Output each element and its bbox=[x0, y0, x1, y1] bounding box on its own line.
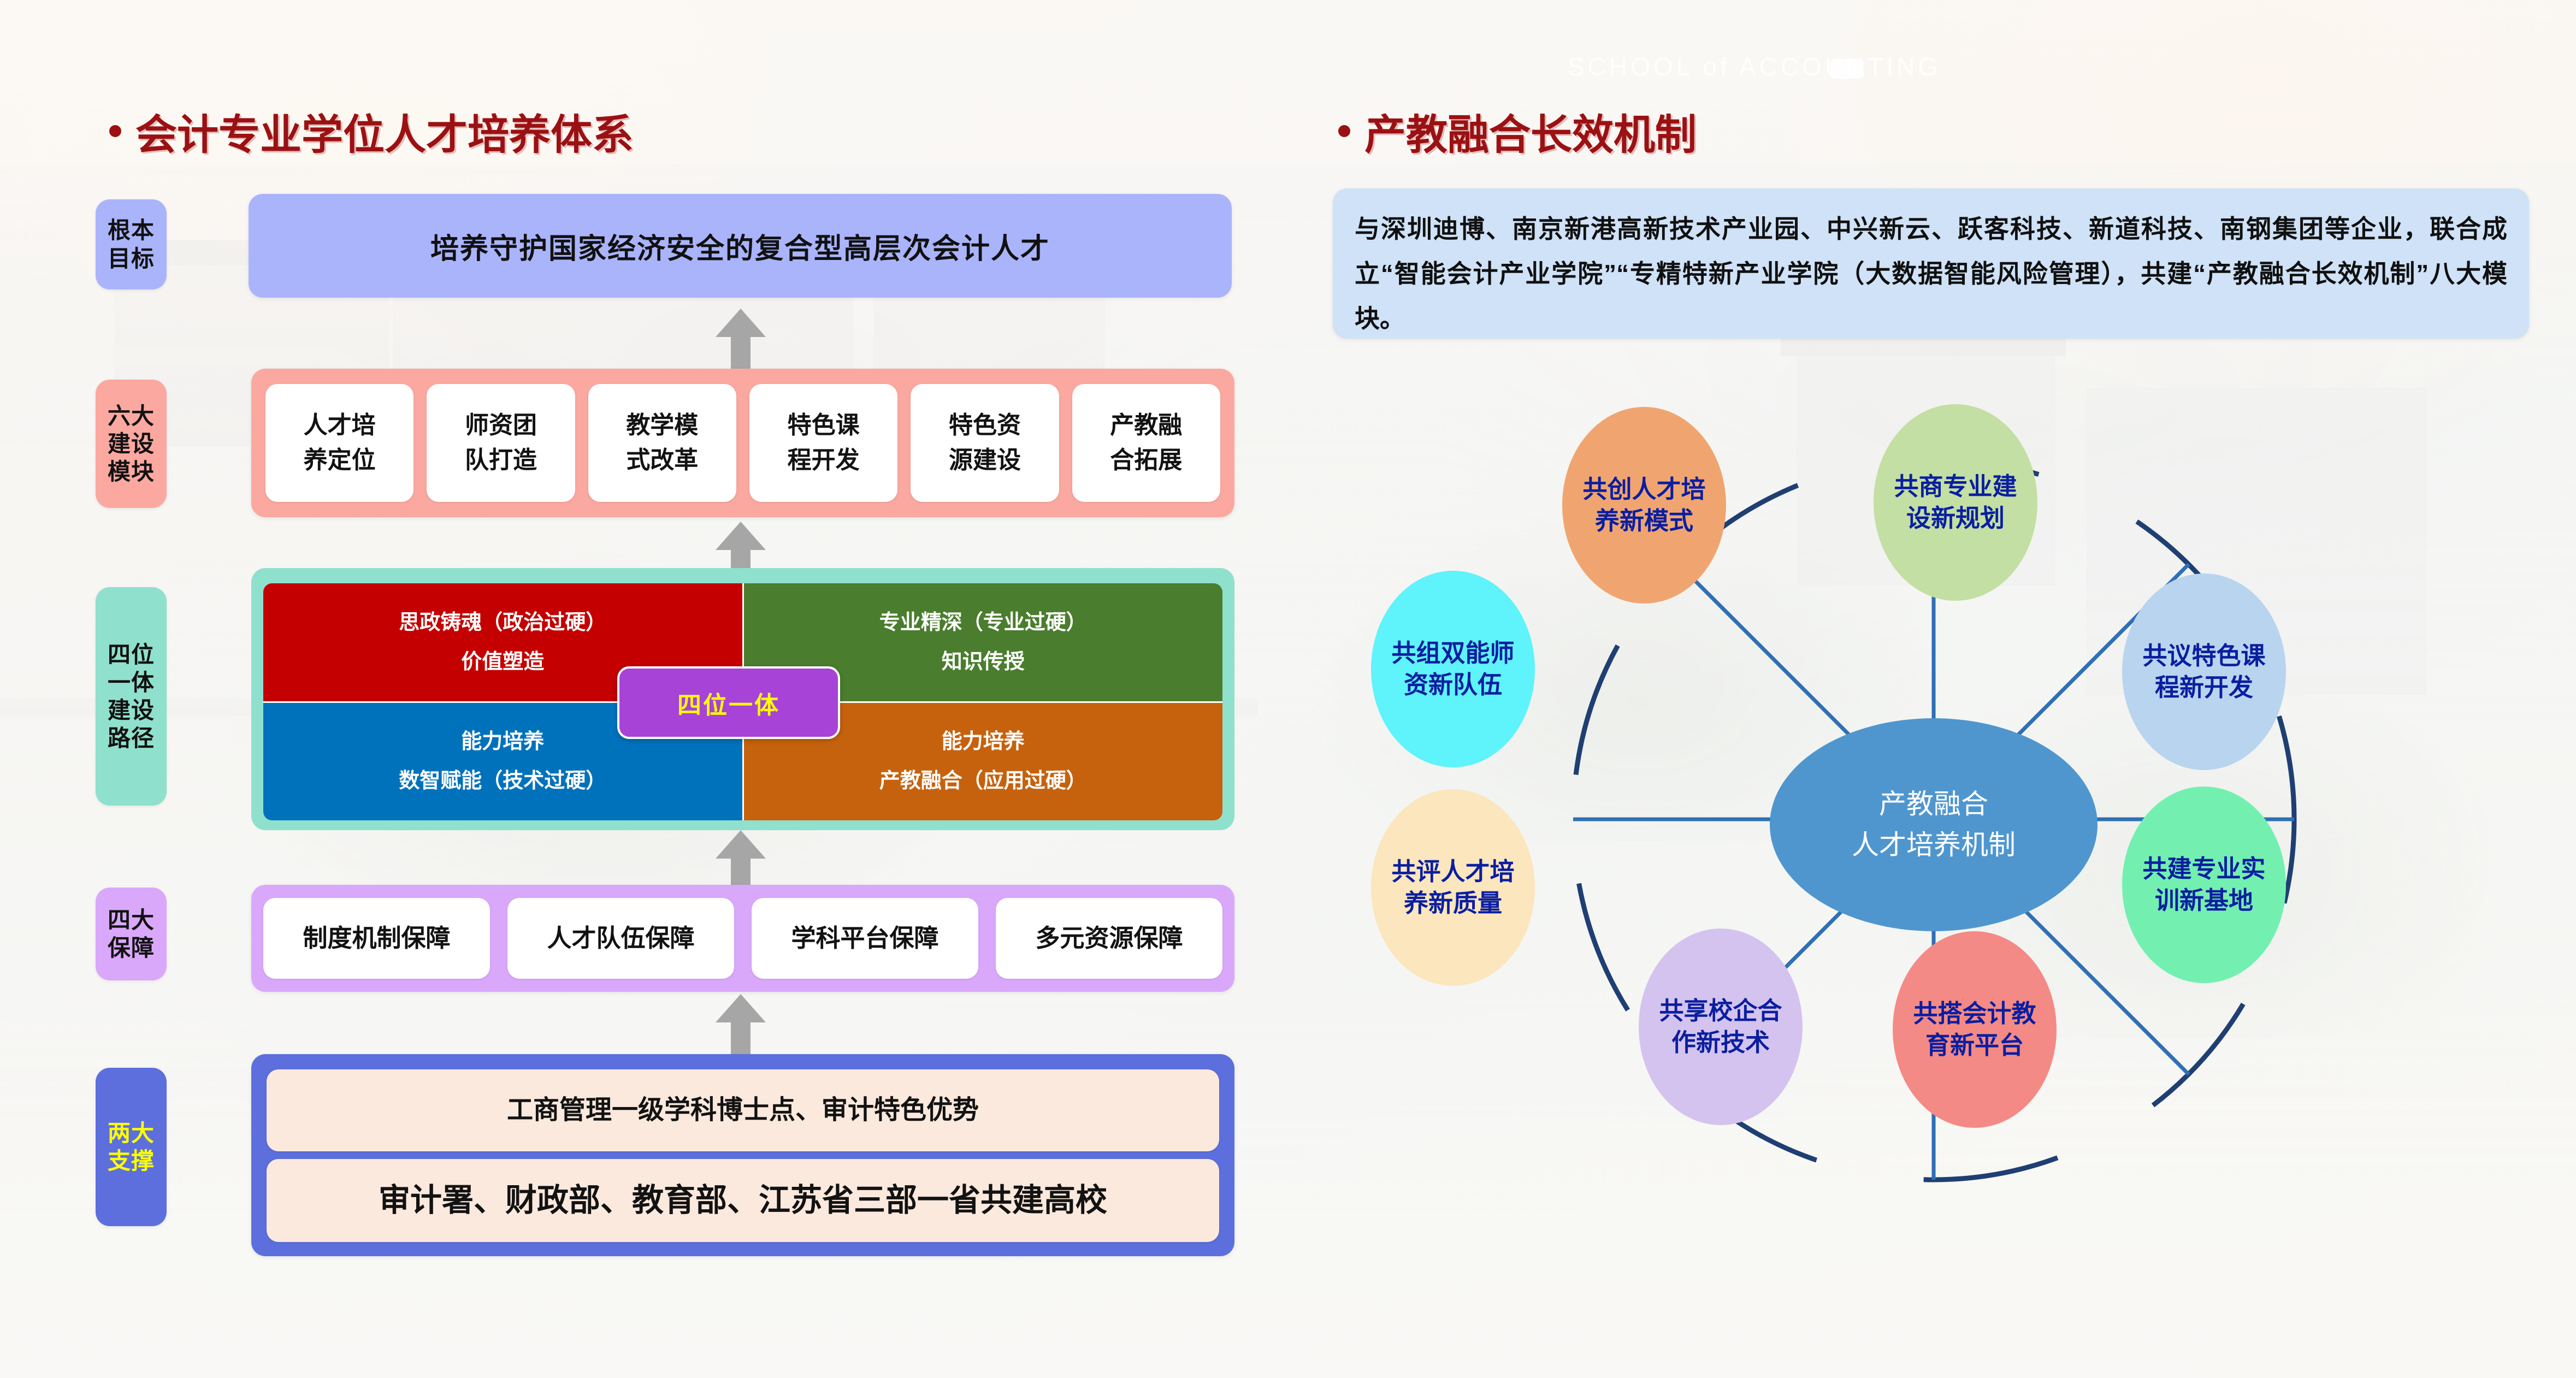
node-line: 共享校企合 bbox=[1659, 995, 1782, 1027]
module-chip-line: 人才培 bbox=[304, 408, 376, 443]
wheel-center-node[interactable]: 产教融合 人才培养机制 bbox=[1770, 718, 2098, 931]
module-chip-line: 产教融 bbox=[1110, 408, 1182, 443]
goal-band: 培养守护国家经济安全的复合型高层次会计人才 bbox=[249, 194, 1232, 298]
node-line: 养新质量 bbox=[1404, 888, 1502, 919]
node-line: 共建专业实 bbox=[2142, 853, 2265, 885]
module-chip-line: 队打造 bbox=[465, 443, 537, 478]
row-label-line: 四大 bbox=[108, 906, 155, 934]
right-title-text: 产教融合长效机制 bbox=[1364, 101, 1697, 161]
module-chip-line: 特色课 bbox=[788, 408, 860, 443]
wheel-node-education-platform[interactable]: 共搭会计教 育新平台 bbox=[1893, 931, 2057, 1128]
right-section-title: 产教融合长效机制 bbox=[1338, 101, 1697, 161]
row-label-goal: 根本 目标 bbox=[96, 199, 167, 289]
bullet-dot-icon bbox=[1338, 125, 1350, 137]
guarantees-band: 制度机制保障 人才队伍保障 学科平台保障 多元资源保障 bbox=[251, 885, 1234, 992]
guarantee-chip-text: 学科平台保障 bbox=[791, 920, 938, 956]
module-chip[interactable]: 师资团 队打造 bbox=[427, 384, 575, 502]
quadrant-cell-line: 价值塑造 bbox=[461, 642, 544, 682]
module-chip-line: 特色资 bbox=[949, 408, 1021, 443]
module-chip[interactable]: 特色资 源建设 bbox=[911, 384, 1059, 502]
wheel-node-training-base[interactable]: 共建专业实 训新基地 bbox=[2122, 786, 2286, 983]
support-chip-text: 工商管理一级学科博士点、审计特色优势 bbox=[507, 1091, 979, 1129]
quadrant-cell-line: 能力培养 bbox=[461, 722, 544, 761]
row-label-support: 两大 支撑 bbox=[96, 1068, 167, 1226]
intro-text: 与深圳迪博、南京新港高新技术产业园、中兴新云、跃客科技、新道科技、南钢集团等企业… bbox=[1355, 215, 2507, 333]
support-chip-text: 审计署、财政部、教育部、江苏省三部一省共建高校 bbox=[379, 1178, 1107, 1223]
quadrant-center-badge[interactable]: 四位一体 bbox=[617, 666, 840, 739]
module-chip-line: 教学模 bbox=[626, 408, 698, 443]
node-line: 程新开发 bbox=[2155, 672, 2253, 703]
quadrant-cell-line: 数智赋能（技术过硬） bbox=[399, 761, 606, 801]
supports-band: 工商管理一级学科博士点、审计特色优势 审计署、财政部、教育部、江苏省三部一省共建… bbox=[251, 1054, 1234, 1256]
node-line: 共创人才培 bbox=[1582, 474, 1705, 505]
node-line: 资新队伍 bbox=[1404, 669, 1502, 701]
module-chip-line: 源建设 bbox=[949, 443, 1021, 478]
node-line: 作新技术 bbox=[1671, 1027, 1770, 1058]
quadrant-badge-text: 四位一体 bbox=[677, 685, 780, 720]
node-line: 共评人才培 bbox=[1391, 856, 1514, 888]
row-label-line: 路径 bbox=[108, 724, 155, 752]
arrow-up-to-goal bbox=[716, 309, 766, 371]
module-chip[interactable]: 人才培 养定位 bbox=[265, 384, 413, 502]
wheel-node-major-plan[interactable]: 共商专业建 设新规划 bbox=[1874, 404, 2037, 601]
quadrant-cell-line: 产教融合（应用过硬） bbox=[879, 761, 1087, 801]
row-label-line: 建设 bbox=[108, 430, 155, 458]
row-label-line: 建设 bbox=[108, 696, 155, 724]
wheel-node-course-dev[interactable]: 共议特色课 程新开发 bbox=[2122, 573, 2286, 770]
node-line: 共商专业建 bbox=[1894, 471, 2017, 502]
row-label-line: 六大 bbox=[108, 402, 155, 430]
center-line: 人才培养机制 bbox=[1852, 825, 2016, 866]
quadrant-cell-line: 思政铸魂（政治过硬） bbox=[399, 603, 606, 642]
right-panel: 产教融合长效机制 与深圳迪博、南京新港高新技术产业园、中兴新云、跃客科技、新道科… bbox=[1273, 0, 2576, 1378]
partnership-wheel: 产教融合 人才培养机制 共创人才培 养新模式 共商专业建 设新规划 共议特色课 … bbox=[1327, 382, 2540, 1333]
module-chip-line: 程开发 bbox=[788, 443, 860, 478]
guarantee-chip[interactable]: 学科平台保障 bbox=[752, 898, 978, 979]
module-chip-line: 式改革 bbox=[626, 443, 698, 478]
node-line: 训新基地 bbox=[2155, 885, 2253, 916]
node-line: 共议特色课 bbox=[2142, 640, 2265, 672]
quadrant-cell-line: 知识传授 bbox=[942, 642, 1025, 682]
row-label-line: 目标 bbox=[108, 245, 155, 273]
node-line: 共搭会计教 bbox=[1913, 998, 2036, 1030]
module-chip[interactable]: 特色课 程开发 bbox=[749, 384, 897, 502]
support-chip[interactable]: 工商管理一级学科博士点、审计特色优势 bbox=[267, 1069, 1219, 1151]
row-label-line: 两大 bbox=[108, 1119, 155, 1147]
row-label-line: 支撑 bbox=[108, 1147, 155, 1175]
quadrant-cell-line: 专业精深（专业过硬） bbox=[879, 603, 1087, 642]
guarantee-chip-text: 多元资源保障 bbox=[1035, 920, 1183, 956]
row-label-line: 一体 bbox=[108, 669, 155, 696]
guarantee-chip[interactable]: 人才队伍保障 bbox=[507, 898, 734, 979]
wheel-node-quality-eval[interactable]: 共评人才培 养新质量 bbox=[1371, 789, 1535, 986]
guarantee-chip-text: 制度机制保障 bbox=[303, 920, 450, 956]
center-line: 产教融合 bbox=[1879, 784, 1988, 825]
quadrant-cell-line: 能力培养 bbox=[942, 722, 1025, 761]
guarantee-chip[interactable]: 多元资源保障 bbox=[996, 898, 1222, 979]
module-chip-line: 师资团 bbox=[465, 408, 537, 443]
row-label-line: 根本 bbox=[108, 216, 155, 244]
node-line: 共组双能师 bbox=[1391, 637, 1514, 669]
row-label-line: 保障 bbox=[108, 934, 155, 962]
wheel-node-dual-teachers[interactable]: 共组双能师 资新队伍 bbox=[1371, 571, 1535, 767]
left-title-text: 会计专业学位人才培养体系 bbox=[135, 101, 634, 161]
support-chip[interactable]: 审计署、财政部、教育部、江苏省三部一省共建高校 bbox=[267, 1159, 1219, 1242]
row-label-line: 模块 bbox=[108, 458, 155, 486]
quadrant-frame: 思政铸魂（政治过硬） 价值塑造 专业精深（专业过硬） 知识传授 能力培养 数智赋… bbox=[251, 568, 1234, 830]
module-chip[interactable]: 产教融 合拓展 bbox=[1072, 384, 1220, 502]
guarantee-chip[interactable]: 制度机制保障 bbox=[263, 898, 490, 979]
arrow-up-to-path bbox=[716, 830, 766, 893]
row-label-path: 四位 一体 建设 路径 bbox=[96, 587, 167, 806]
row-label-guarantee: 四大 保障 bbox=[96, 888, 167, 980]
modules-band: 人才培 养定位 师资团 队打造 教学模 式改革 特色课 程开发 特色资 源建设 … bbox=[251, 369, 1234, 517]
left-panel: 会计专业学位人才培养体系 根本 目标 培养守护国家经济安全的复合型高层次会计人才… bbox=[0, 0, 1273, 1378]
guarantee-chip-text: 人才队伍保障 bbox=[547, 920, 694, 956]
arrow-up-to-guarantees bbox=[716, 994, 766, 1055]
node-line: 养新模式 bbox=[1595, 505, 1693, 537]
module-chip-line: 合拓展 bbox=[1110, 443, 1182, 478]
wheel-node-talent-model[interactable]: 共创人才培 养新模式 bbox=[1562, 407, 1726, 604]
row-label-line: 四位 bbox=[108, 641, 155, 669]
wheel-node-new-technology[interactable]: 共享校企合 作新技术 bbox=[1639, 928, 1803, 1125]
bullet-dot-icon bbox=[109, 125, 121, 137]
row-label-modules: 六大 建设 模块 bbox=[96, 380, 167, 508]
left-section-title: 会计专业学位人才培养体系 bbox=[109, 101, 634, 161]
module-chip-line: 养定位 bbox=[304, 443, 376, 478]
module-chip[interactable]: 教学模 式改革 bbox=[588, 384, 736, 502]
node-line: 设新规划 bbox=[1906, 502, 2005, 534]
node-line: 育新平台 bbox=[1925, 1030, 2024, 1061]
intro-textbox: 与深圳迪博、南京新港高新技术产业园、中兴新云、跃客科技、新道科技、南钢集团等企业… bbox=[1333, 188, 2529, 339]
goal-text: 培养守护国家经济安全的复合型高层次会计人才 bbox=[430, 226, 1050, 267]
